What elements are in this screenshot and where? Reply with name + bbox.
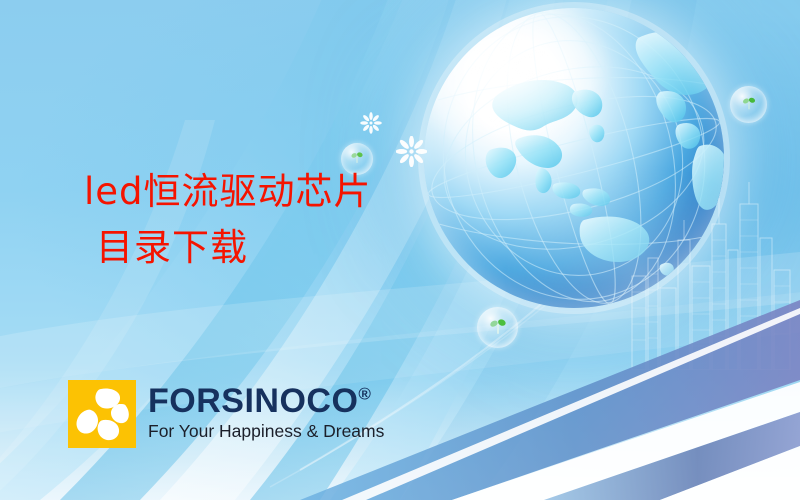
company-tagline: For Your Happiness & Dreams (148, 421, 384, 441)
slide-title: led恒流驱动芯片 目录下载 (84, 164, 372, 276)
company-name: FORSINOCO® (148, 384, 384, 418)
forsinoco-pinwheel-mark (68, 380, 136, 448)
bubble-top-right (730, 86, 767, 123)
bubble-seedling-icon (487, 314, 509, 341)
title-line-1: led恒流驱动芯片 (84, 164, 372, 220)
daisy-large-icon (396, 136, 427, 172)
company-name-text: FORSINOCO (148, 382, 358, 420)
title-line-2: 目录下载 (84, 220, 372, 276)
bubble-bottom-center (477, 307, 518, 348)
bubble-seedling-icon (740, 93, 758, 116)
company-logo: FORSINOCO® For Your Happiness & Dreams (68, 380, 384, 448)
slide-canvas: led恒流驱动芯片 目录下载 FORSINOCO® For Your Happi… (0, 0, 800, 500)
logo-wordmark: FORSINOCO® For Your Happiness & Dreams (148, 380, 384, 441)
registered-trademark-icon: ® (358, 385, 371, 404)
daisy-small-icon (360, 112, 382, 139)
city-skyline-silhouette (620, 180, 800, 370)
